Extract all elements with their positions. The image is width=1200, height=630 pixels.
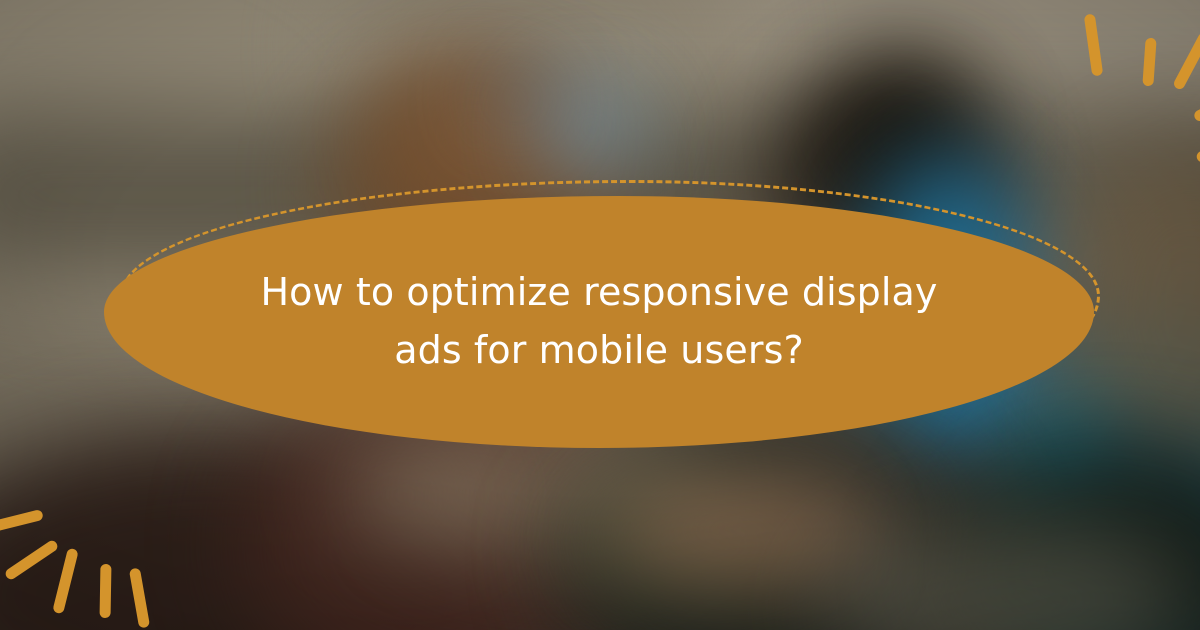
sparkle-burst-top-right-bar [1192,85,1200,123]
sparkle-burst-top-right-bar [1172,31,1200,91]
sparkle-burst-top-right-icon [1030,0,1200,200]
sparkle-burst-top-right-bar [1196,143,1200,163]
sparkle-burst-bottom-left-bar [4,539,60,582]
sparkle-burst-bottom-left-bar [129,568,150,629]
page-title: How to optimize responsive display ads f… [234,264,964,380]
sparkle-burst-bottom-left-icon [10,460,210,630]
sparkle-burst-top-right-bar [1142,38,1156,87]
social-card-canvas: How to optimize responsive display ads f… [0,0,1200,630]
sparkle-burst-bottom-left-bar [100,564,112,618]
sparkle-burst-bottom-left-bar [52,548,79,615]
sparkle-burst-top-right-bar [1084,14,1104,77]
